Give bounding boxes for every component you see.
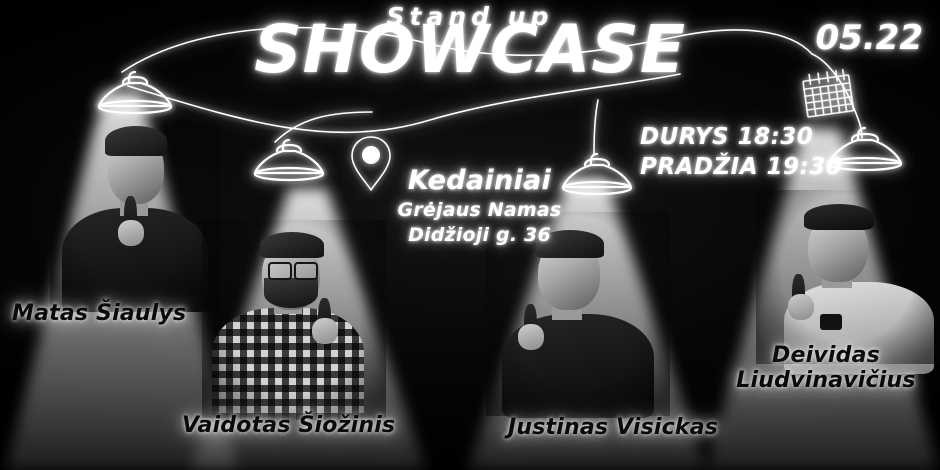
performer-photo-2	[212, 226, 376, 416]
venue-block: Kedainiai Grėjaus Namas Didžioji g. 36	[372, 165, 587, 246]
event-date: 05.22	[815, 18, 923, 58]
wire-lamp3-drop	[594, 100, 598, 154]
performer-name-4: Deividas Liudvinavičius	[726, 344, 926, 393]
performer-name-2: Vaidotas Šiožinis	[182, 414, 395, 439]
hanging-lamp-2	[248, 138, 330, 184]
wire-lamp2-drop	[275, 112, 372, 142]
schedule-block: DURYS 18:30 PRADŽIA 19:30	[640, 122, 842, 183]
venue-place: Grėjaus Namas	[372, 199, 587, 221]
event-poster: Stand up SHOWCASE 05.22 DURYS 18:30 PRAD…	[0, 0, 940, 470]
venue-address: Didžioji g. 36	[372, 224, 587, 246]
performer-photo-3	[496, 218, 660, 414]
performer-name-1: Matas Šiaulys	[12, 302, 186, 327]
venue-city: Kedainiai	[372, 165, 587, 196]
performer-name-3: Justinas Visickas	[508, 416, 718, 441]
page-title: SHOWCASE	[0, 17, 940, 83]
doors-time: DURYS 18:30	[640, 122, 842, 152]
start-time: PRADŽIA 19:30	[640, 152, 842, 182]
performer-photo-4	[766, 196, 932, 362]
performer-photo-1	[60, 112, 210, 310]
